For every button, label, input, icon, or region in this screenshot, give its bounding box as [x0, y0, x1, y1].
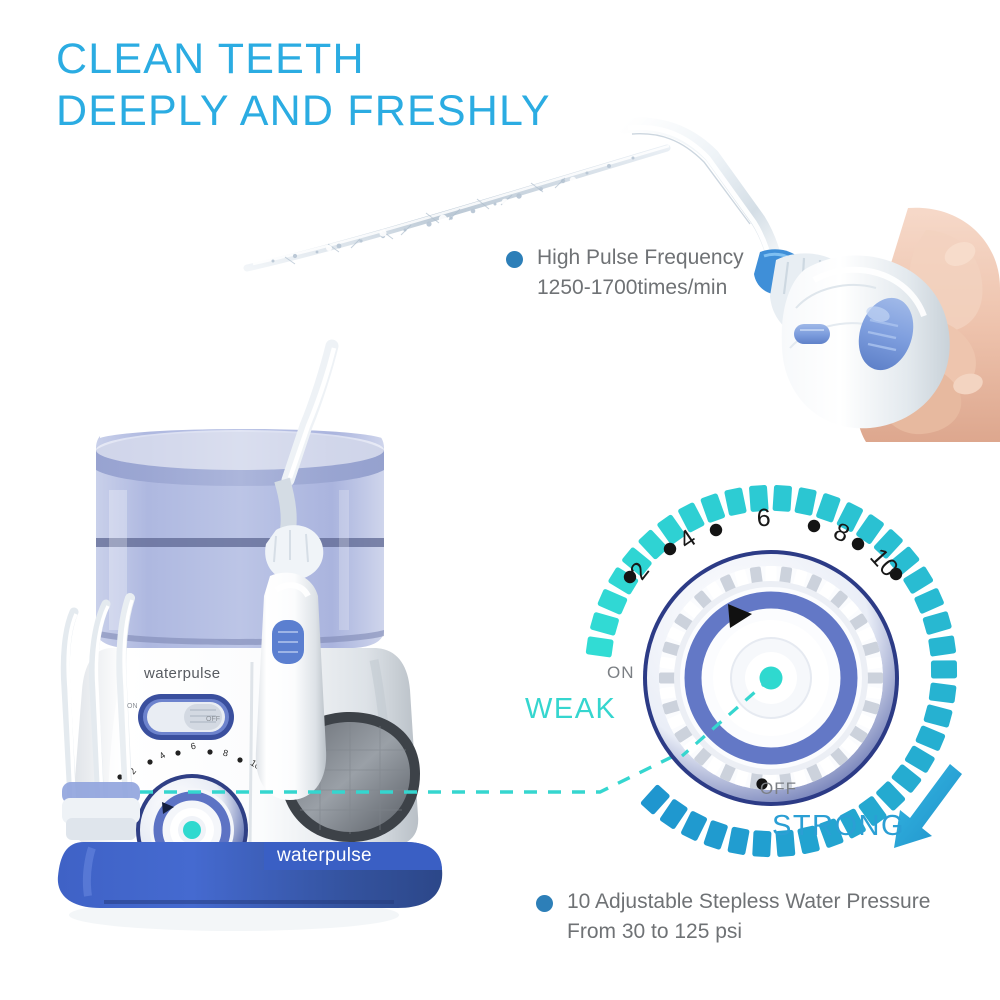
scale-tick: [703, 820, 728, 850]
scale-tick: [794, 487, 817, 516]
scale-tick: [590, 612, 620, 636]
callout-pressure-line-2: From 30 to 125 psi: [567, 920, 742, 943]
dial-off-dot: [756, 778, 767, 789]
scale-tick: [727, 826, 750, 855]
callout-pulse-text: High Pulse Frequency 1250-1700times/min: [537, 243, 744, 303]
scale-tick: [839, 808, 867, 839]
scale-tick: [700, 493, 726, 524]
scale-tick: [797, 825, 820, 854]
scale-tick: [752, 830, 771, 857]
scale-tick: [931, 660, 957, 678]
water-tank: [96, 426, 384, 648]
bullet-icon: [506, 251, 523, 268]
infographic-canvas: CLEAN TEETH DEEPLY AND FRESHLY: [0, 0, 1000, 1000]
scale-tick: [586, 636, 614, 657]
scale-tick: [928, 635, 956, 657]
headline-line-2: DEEPLY AND FRESHLY: [56, 86, 551, 138]
callout-pulse-line-1: High Pulse Frequency: [537, 246, 744, 269]
power-switch: [138, 694, 234, 740]
callout-pressure-text: 10 Adjustable Stepless Water Pressure Fr…: [567, 887, 930, 947]
svg-text:8: 8: [829, 517, 854, 548]
callout-pressure-line-1: 10 Adjustable Stepless Water Pressure: [567, 890, 930, 913]
scale-tick: [772, 485, 792, 512]
callout-adjustable-pressure: 10 Adjustable Stepless Water Pressure Fr…: [536, 887, 930, 947]
pressure-dial-diagram: 2 4 6 8 10: [556, 456, 986, 886]
scale-tick: [680, 810, 708, 841]
flosser-slider-button: [794, 324, 830, 344]
scale-tick: [929, 682, 957, 703]
scale-tick: [724, 487, 747, 516]
callout-pulse-line-2: 1250-1700times/min: [537, 276, 727, 299]
scale-tick: [914, 587, 945, 614]
scale-tick: [597, 588, 628, 615]
callout-high-pulse-frequency: High Pulse Frequency 1250-1700times/min: [506, 243, 744, 303]
bullet-icon: [536, 895, 553, 912]
scale-tick: [818, 818, 844, 849]
scale-tick: [915, 725, 946, 752]
scale-tick: [775, 830, 795, 857]
headline-line-1: CLEAN TEETH: [56, 34, 551, 86]
scale-tick: [923, 704, 953, 728]
scale-tick: [815, 493, 841, 523]
scale-tick: [922, 611, 952, 636]
svg-text:6: 6: [756, 504, 771, 532]
page-title: CLEAN TEETH DEEPLY AND FRESHLY: [56, 34, 551, 137]
